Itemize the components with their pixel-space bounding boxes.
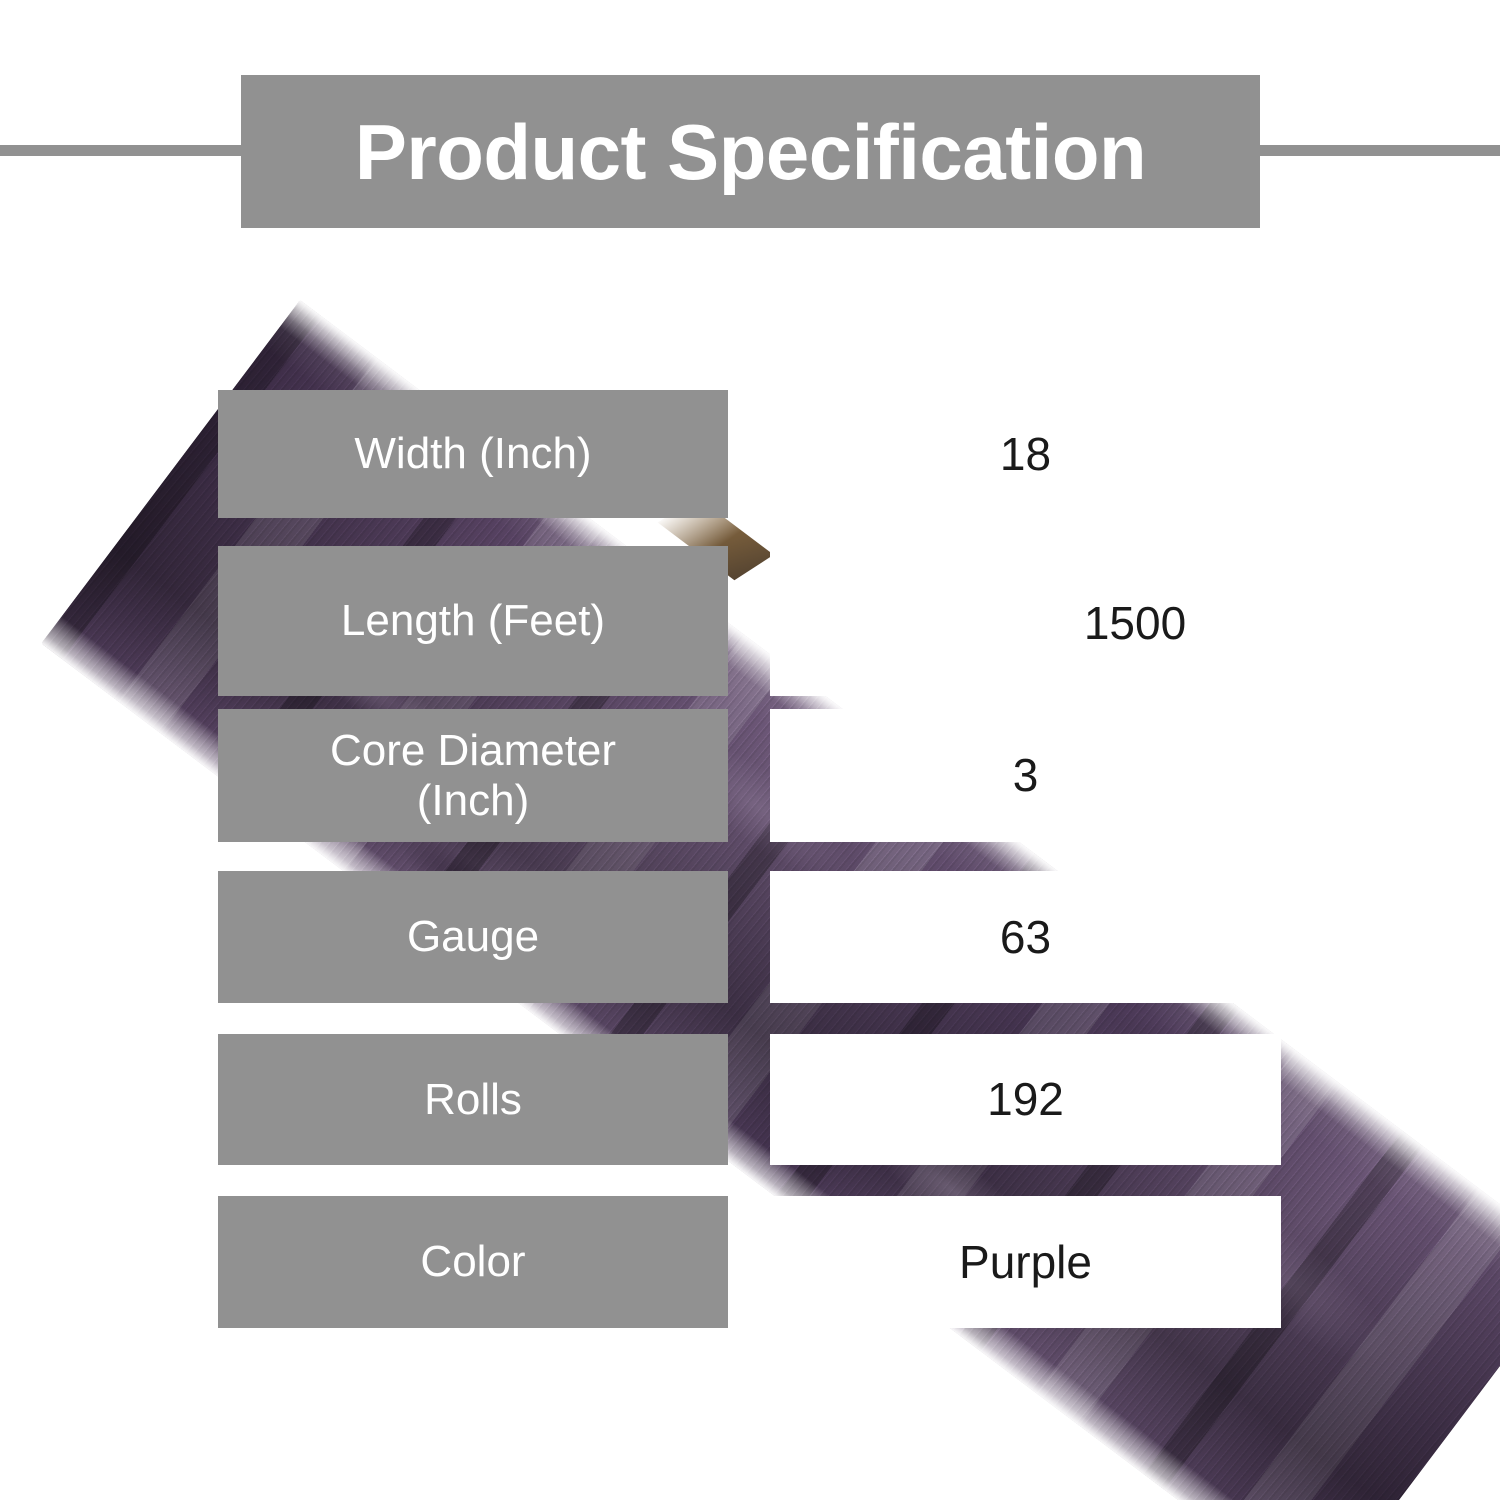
spec-value-gauge: 63 [770,871,1281,1003]
spec-value-width: 18 [770,390,1281,518]
spec-label-width: Width (Inch) [218,390,728,518]
spec-label-rolls: Rolls [218,1034,728,1165]
spec-label-gauge: Gauge [218,871,728,1003]
spec-label-color: Color [218,1196,728,1328]
spec-label-length: Length (Feet) [218,546,728,696]
spec-value-color: Purple [770,1196,1281,1328]
specification-table: Width (Inch) 18 Length (Feet) 1500 Core … [0,0,1500,1500]
spec-value-core-diameter: 3 [770,709,1281,842]
spec-label-core-diameter: Core Diameter (Inch) [218,709,728,842]
spec-value-rolls: 192 [770,1034,1281,1165]
spec-value-length: 1500 [770,551,1500,696]
